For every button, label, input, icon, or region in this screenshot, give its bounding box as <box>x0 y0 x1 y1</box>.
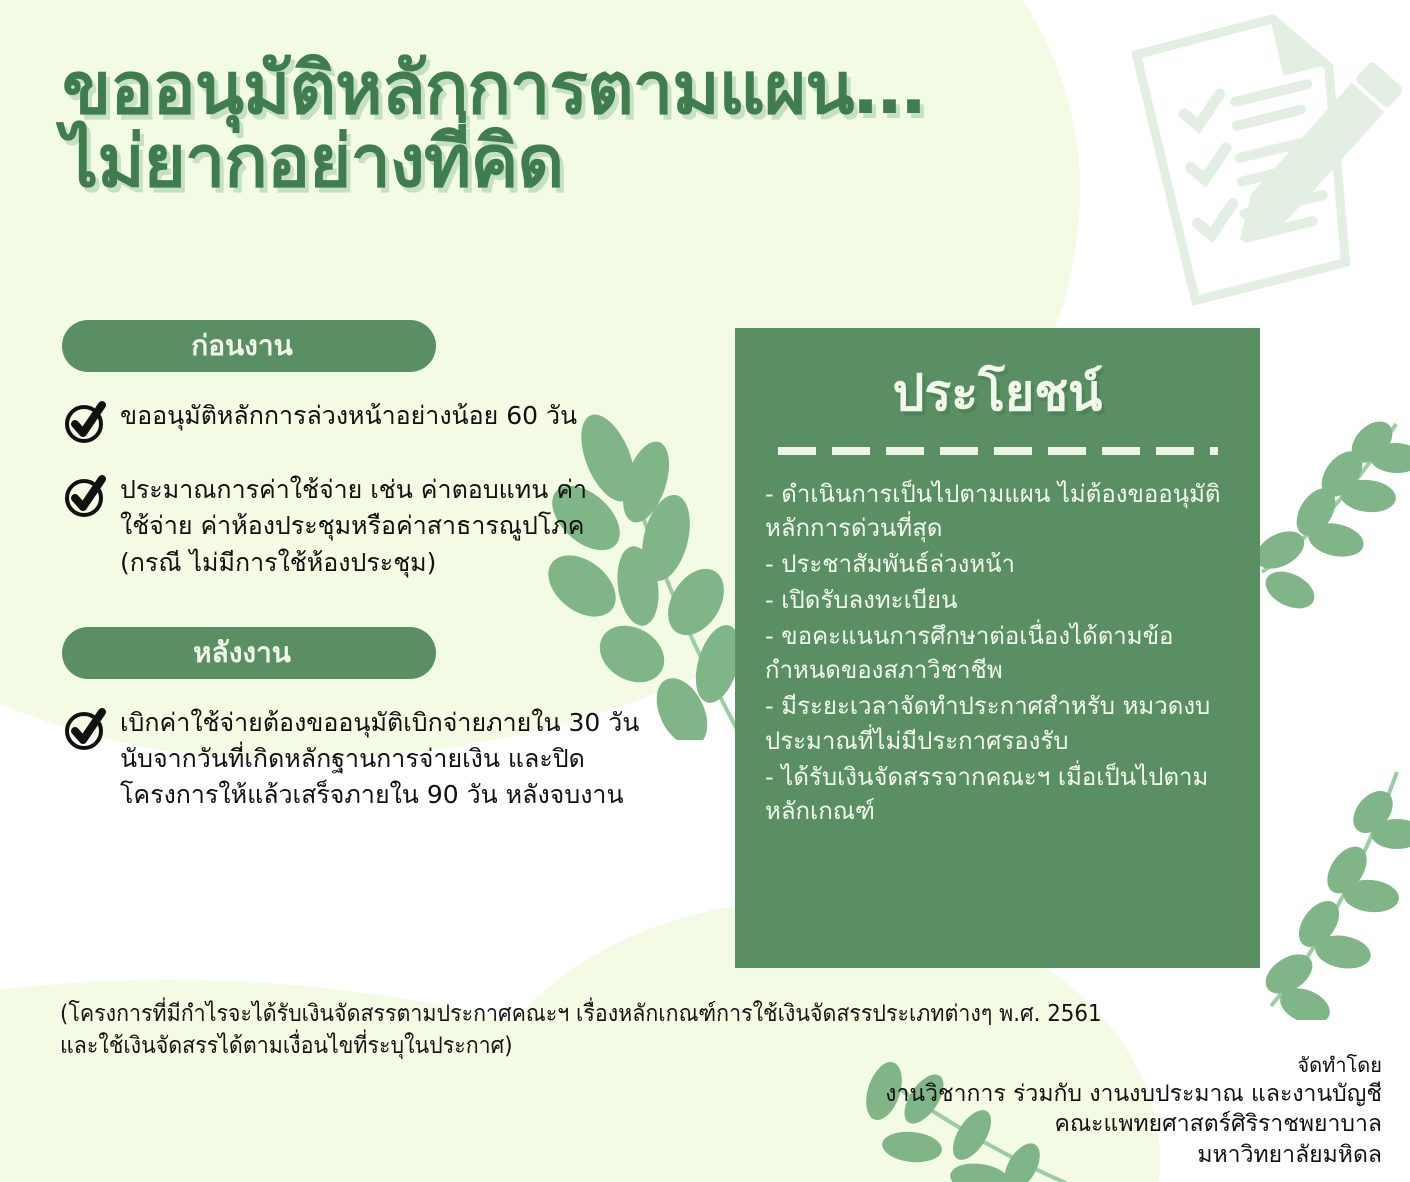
infographic-poster: ขออนุมัติหลักการตามแผน… ไม่ยากอย่างที่คิ… <box>0 0 1410 1182</box>
list-item: - มีระยะเวลาจัดทำประกาศสำหรับ หมวดงบประม… <box>765 689 1230 757</box>
list-item-label: ประมาณการค่าใช้จ่าย เช่น ค่าตอบแทน ค่าใช… <box>120 472 590 581</box>
left-column: ก่อนงาน ขออนุมัติหลักการล่วงหน้าอย่างน้อ… <box>62 320 682 814</box>
benefits-panel-title: ประโยชน์ <box>765 366 1230 421</box>
list-item: - เปิดรับลงทะเบียน <box>765 583 1230 617</box>
dashed-divider <box>778 447 1218 455</box>
check-circle-icon <box>62 707 108 753</box>
title-line-2: ไม่ยากอย่างที่คิด <box>62 125 1142 198</box>
check-circle-icon <box>62 474 108 520</box>
list-item: ขออนุมัติหลักการล่วงหน้าอย่างน้อย 60 วัน <box>62 398 682 446</box>
page-title: ขออนุมัติหลักการตามแผน… ไม่ยากอย่างที่คิ… <box>62 52 1142 199</box>
list-item: - ขอคะแนนการศึกษาต่อเนื่องได้ตามข้อกำหนด… <box>765 619 1230 687</box>
benefits-panel: ประโยชน์ - ดำเนินการเป็นไปตามแผน ไม่ต้อง… <box>735 328 1260 968</box>
check-circle-icon <box>62 400 108 446</box>
bullet-list-before-event: ขออนุมัติหลักการล่วงหน้าอย่างน้อย 60 วัน… <box>62 398 682 581</box>
clipboard-checklist-icon <box>1096 8 1406 308</box>
section-label-after-event: หลังงาน <box>62 627 436 679</box>
section-label-before-event: ก่อนงาน <box>62 320 436 372</box>
leaf-branch-icon <box>1250 400 1410 700</box>
credits-line-2: คณะแพทยศาสตร์ศิริราชพยาบาล <box>885 1109 1382 1139</box>
credits-line-1: งานวิชาการ ร่วมกับ งานงบประมาณ และงานบัญ… <box>885 1079 1382 1109</box>
section-before-event: ก่อนงาน ขออนุมัติหลักการล่วงหน้าอย่างน้อ… <box>62 320 682 581</box>
list-item: - ได้รับเงินจัดสรรจากคณะฯ เมื่อเป็นไปตาม… <box>765 760 1230 828</box>
section-after-event: หลังงาน เบิกค่าใช้จ่ายต้องขออนุมัติเบิกจ… <box>62 627 682 814</box>
list-item: เบิกค่าใช้จ่ายต้องขออนุมัติเบิกจ่ายภายใน… <box>62 705 682 814</box>
list-item: ประมาณการค่าใช้จ่าย เช่น ค่าตอบแทน ค่าใช… <box>62 472 682 581</box>
benefits-list: - ดำเนินการเป็นไปตามแผน ไม่ต้องขออนุมัติ… <box>765 477 1230 828</box>
title-line-1: ขออนุมัติหลักการตามแผน… <box>62 52 1142 125</box>
list-item: - ประชาสัมพันธ์ล่วงหน้า <box>765 547 1230 581</box>
pencil-icon <box>1223 60 1404 254</box>
leaf-branch-icon <box>1255 720 1410 1020</box>
credits-line-3: มหาวิทยาลัยมหิดล <box>885 1140 1382 1170</box>
bullet-list-after-event: เบิกค่าใช้จ่ายต้องขออนุมัติเบิกจ่ายภายใน… <box>62 705 682 814</box>
credits-block: จัดทำโดย งานวิชาการ ร่วมกับ งานงบประมาณ … <box>885 1052 1382 1170</box>
list-item-label: เบิกค่าใช้จ่ายต้องขออนุมัติเบิกจ่ายภายใน… <box>120 705 640 814</box>
list-item-label: ขออนุมัติหลักการล่วงหน้าอย่างน้อย 60 วัน <box>120 398 577 434</box>
list-item: - ดำเนินการเป็นไปตามแผน ไม่ต้องขออนุมัติ… <box>765 477 1230 545</box>
section-spacer <box>62 581 682 627</box>
footnote-line-1: (โครงการที่มีกำไรจะได้รับเงินจัดสรรตามปร… <box>60 998 1157 1030</box>
credits-label: จัดทำโดย <box>885 1052 1382 1079</box>
